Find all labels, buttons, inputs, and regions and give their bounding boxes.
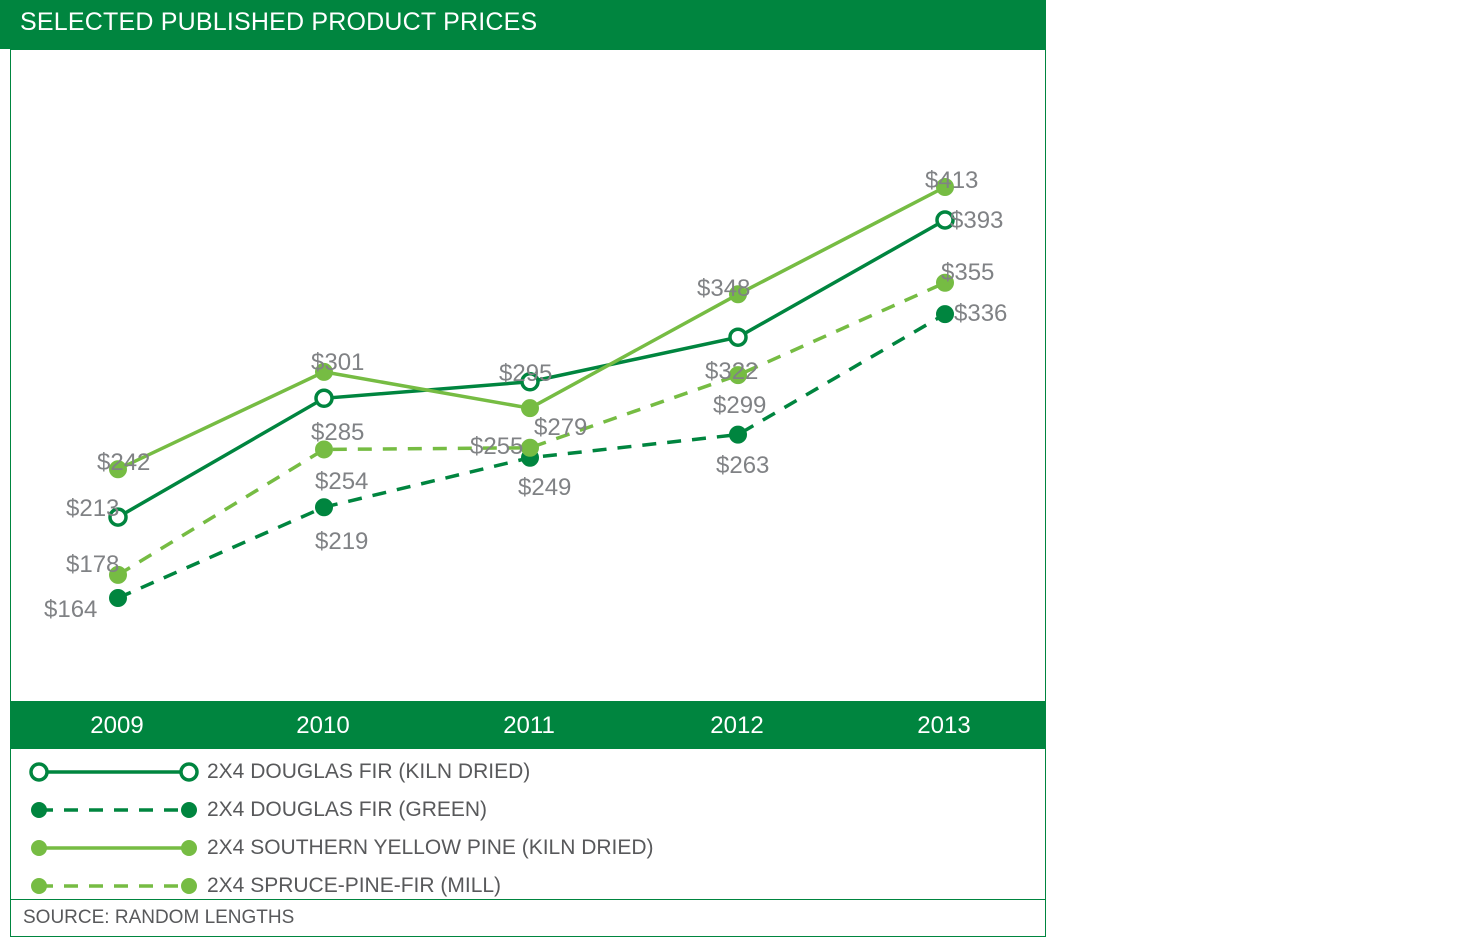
legend-item-3[interactable]: 2X4 SOUTHERN YELLOW PINE (KILN DRIED) [11,829,1045,867]
data-label: $413 [925,167,978,195]
legend-swatch-icon [29,753,199,791]
legend-label: 2X4 SOUTHERN YELLOW PINE (KILN DRIED) [207,836,654,860]
data-label: $285 [311,419,364,447]
data-label: $178 [66,551,119,579]
data-label: $336 [954,300,1007,328]
data-point [522,440,538,456]
data-label: $249 [518,474,571,502]
data-label: $301 [311,349,364,377]
x-tick-label-2013: 2013 [884,712,1004,740]
data-label: $255 [470,433,523,461]
data-label: $393 [950,207,1003,235]
legend-item-2[interactable]: 2X4 DOUGLAS FIR (GREEN) [11,791,1045,829]
legend-label: 2X4 SPRUCE-PINE-FIR (MILL) [207,874,501,898]
chart-page: SELECTED PUBLISHED PRODUCT PRICES $242$2… [0,0,1460,937]
data-label: $299 [713,392,766,420]
data-label: $322 [705,358,758,386]
data-label: $254 [315,468,368,496]
data-label: $219 [315,528,368,556]
series-line-3 [118,187,945,469]
page-title: SELECTED PUBLISHED PRODUCT PRICES [20,8,537,37]
data-label: $355 [941,259,994,287]
data-label: $164 [44,596,97,624]
data-label: $242 [97,449,150,477]
data-label: $279 [534,414,587,442]
source-box: SOURCE: RANDOM LENGTHS [10,900,1046,937]
data-label: $213 [66,495,119,523]
series-line-4 [118,283,945,575]
data-label: $348 [697,275,750,303]
x-axis-band: 20092010201120122013 [10,702,1046,748]
legend-swatch-icon [29,829,199,867]
data-point [730,427,746,443]
legend-label: 2X4 DOUGLAS FIR (GREEN) [207,798,487,822]
data-point [316,499,332,515]
source-note: SOURCE: RANDOM LENGTHS [23,907,294,929]
data-label: $295 [499,360,552,388]
x-tick-label-2010: 2010 [263,712,383,740]
x-tick-label-2011: 2011 [469,712,589,740]
data-point [937,306,953,322]
data-point [730,329,746,345]
data-label: $263 [716,452,769,480]
data-point [110,590,126,606]
legend-item-1[interactable]: 2X4 DOUGLAS FIR (KILN DRIED) [11,753,1045,791]
x-tick-label-2009: 2009 [57,712,177,740]
data-point [316,390,332,406]
legend-label: 2X4 DOUGLAS FIR (KILN DRIED) [207,760,530,784]
legend-swatch-icon [29,791,199,829]
x-tick-label-2012: 2012 [677,712,797,740]
legend: 2X4 DOUGLAS FIR (KILN DRIED)2X4 DOUGLAS … [10,748,1046,900]
